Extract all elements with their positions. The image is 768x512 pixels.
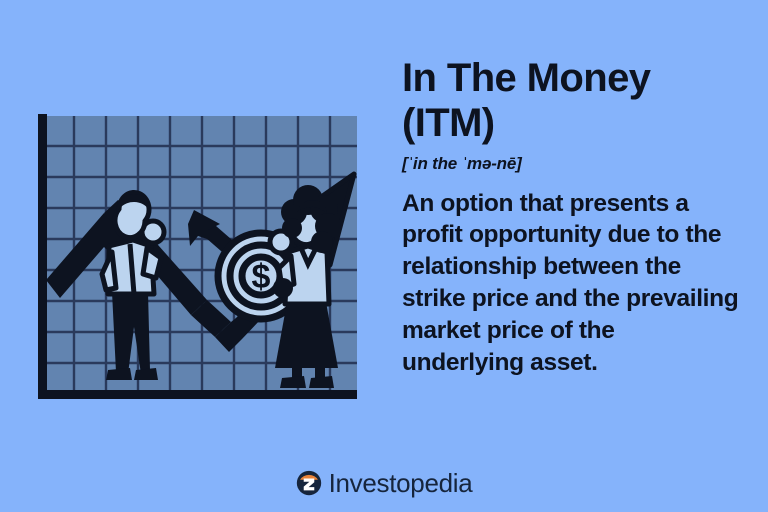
term-text-column: In The Money (ITM) [ˈin the ˈmə-nē] An o… bbox=[402, 56, 742, 379]
pronunciation: [ˈin the ˈmə-nē] bbox=[402, 154, 742, 174]
investopedia-logo-mark bbox=[296, 470, 322, 496]
footer-logo: Investopedia bbox=[0, 470, 768, 496]
definition-card: $ bbox=[0, 0, 768, 512]
y-axis bbox=[38, 114, 47, 399]
brand-name: Investopedia bbox=[329, 470, 473, 496]
definition-text: An option that presents a profit opportu… bbox=[402, 188, 742, 379]
page-title: In The Money (ITM) bbox=[402, 56, 742, 146]
target-dollar-sign: $ bbox=[252, 258, 271, 296]
illustration: $ bbox=[30, 112, 364, 404]
x-axis bbox=[38, 390, 357, 399]
